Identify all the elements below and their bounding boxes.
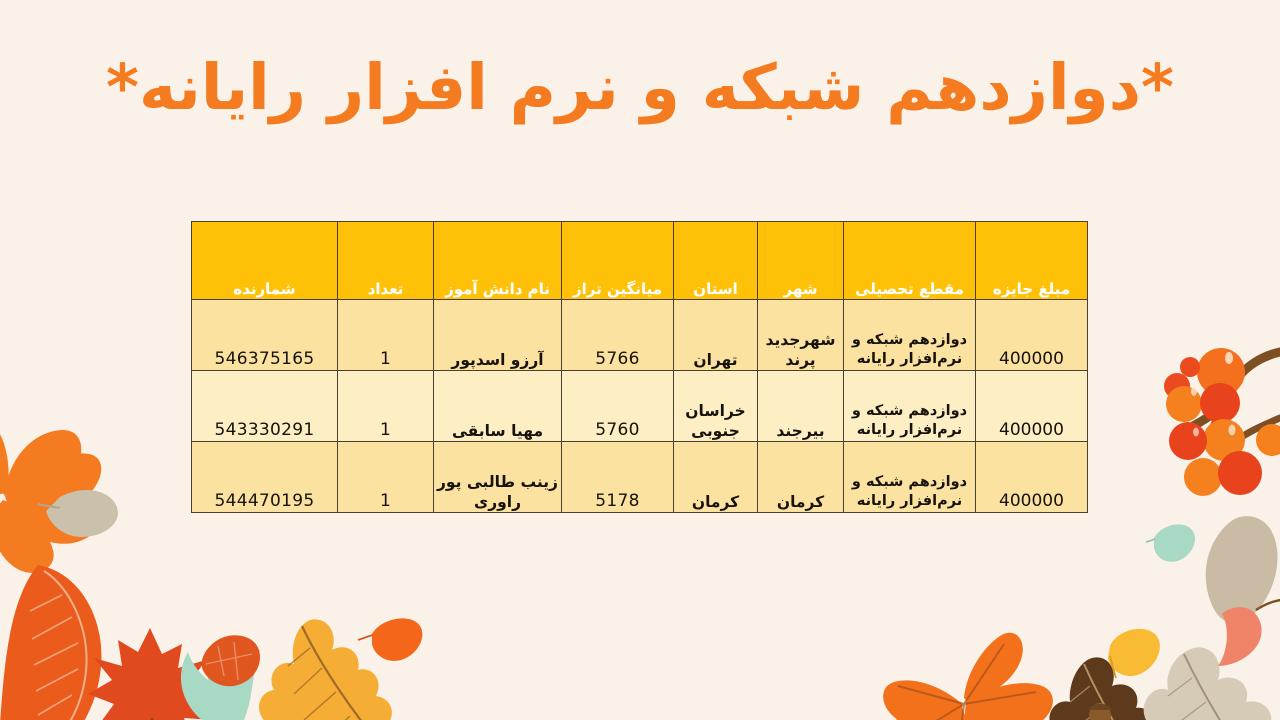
cell-average: 5766 bbox=[562, 300, 674, 371]
column-header-grade: مقطع تحصیلی bbox=[844, 222, 976, 300]
cell-count: 1 bbox=[338, 371, 434, 442]
cell-prize: 400000 bbox=[976, 300, 1088, 371]
column-header-counter: شمارنده bbox=[192, 222, 338, 300]
cell-prize: 400000 bbox=[976, 371, 1088, 442]
table-row: 400000 دوازدهم شبکه و نرم‌افزار رایانه ش… bbox=[192, 300, 1088, 371]
table-header: مبلغ جایزه مقطع تحصیلی شهر استان میانگین… bbox=[192, 222, 1088, 300]
cell-name: مهیا سابقی bbox=[434, 371, 562, 442]
cell-province: کرمان bbox=[674, 442, 758, 513]
cell-grade: دوازدهم شبکه و نرم‌افزار رایانه bbox=[844, 442, 976, 513]
cell-prize: 400000 bbox=[976, 442, 1088, 513]
small-leaf-yellow-floating bbox=[1108, 629, 1160, 678]
berry-cluster-right bbox=[1164, 348, 1280, 496]
oak-leaf-bottom-right-beige bbox=[1123, 647, 1280, 720]
page-title: *دوازدهم شبکه و نرم افزار رایانه* bbox=[106, 52, 1174, 124]
long-leaf-orange-left bbox=[0, 565, 101, 720]
column-header-name: نام دانش آموز bbox=[434, 222, 562, 300]
chestnut-leaf-orange-left bbox=[0, 416, 101, 573]
cell-counter: 543330291 bbox=[192, 371, 338, 442]
chestnut-leaf-orange-bottom-right bbox=[882, 633, 1053, 720]
cell-average: 5178 bbox=[562, 442, 674, 513]
column-header-count: تعداد bbox=[338, 222, 434, 300]
slide-canvas: *دوازدهم شبکه و نرم افزار رایانه* مبلغ ج… bbox=[0, 0, 1280, 720]
cell-grade: دوازدهم شبکه و نرم‌افزار رایانه bbox=[844, 371, 976, 442]
cell-city: کرمان bbox=[758, 442, 844, 513]
cell-average: 5760 bbox=[562, 371, 674, 442]
cell-province: تهران bbox=[674, 300, 758, 371]
cell-grade: دوازدهم شبکه و نرم‌افزار رایانه bbox=[844, 300, 976, 371]
cell-counter: 544470195 bbox=[192, 442, 338, 513]
cell-name: آرزو اسدپور bbox=[434, 300, 562, 371]
column-header-average: میانگین تراز bbox=[562, 222, 674, 300]
cell-city: شهرجدید پرند bbox=[758, 300, 844, 371]
cell-count: 1 bbox=[338, 442, 434, 513]
cell-counter: 546375165 bbox=[192, 300, 338, 371]
award-table-container: مبلغ جایزه مقطع تحصیلی شهر استان میانگین… bbox=[192, 221, 1088, 513]
maple-leaf-red-bottom-left bbox=[88, 628, 214, 720]
leaf-beige-tan-right bbox=[1206, 516, 1278, 623]
page-title-container: *دوازدهم شبکه و نرم افزار رایانه* bbox=[0, 52, 1280, 124]
column-header-prize: مبلغ جایزه bbox=[976, 222, 1088, 300]
grass-leaf-mint-bottom-left bbox=[181, 640, 260, 720]
cell-city: بیرجند bbox=[758, 371, 844, 442]
branch-brown-right bbox=[1176, 352, 1280, 448]
award-table: مبلغ جایزه مقطع تحصیلی شهر استان میانگین… bbox=[191, 221, 1088, 513]
table-row: 400000 دوازدهم شبکه و نرم‌افزار رایانه ب… bbox=[192, 371, 1088, 442]
small-leaf-beige-left bbox=[38, 490, 118, 537]
cell-province: خراسان جنوبی bbox=[674, 371, 758, 442]
acorn-bottom-right bbox=[1088, 703, 1112, 720]
cell-name: زینب طالبی پور راوری bbox=[434, 442, 562, 513]
cell-count: 1 bbox=[338, 300, 434, 371]
oak-leaf-yellow-bottom-center bbox=[253, 619, 394, 720]
oak-leaf-bottom-right-brown bbox=[1040, 657, 1163, 720]
table-row: 400000 دوازدهم شبکه و نرم‌افزار رایانه ک… bbox=[192, 442, 1088, 513]
small-leaf-mint-floating bbox=[1146, 524, 1195, 561]
table-body: 400000 دوازدهم شبکه و نرم‌افزار رایانه ش… bbox=[192, 300, 1088, 513]
small-leaf-red-bottom bbox=[202, 635, 260, 686]
column-header-city: شهر bbox=[758, 222, 844, 300]
table-header-row: مبلغ جایزه مقطع تحصیلی شهر استان میانگین… bbox=[192, 222, 1088, 300]
small-leaf-salmon-floating bbox=[1218, 599, 1280, 666]
column-header-province: استان bbox=[674, 222, 758, 300]
small-leaf-orange-floating bbox=[358, 618, 422, 660]
